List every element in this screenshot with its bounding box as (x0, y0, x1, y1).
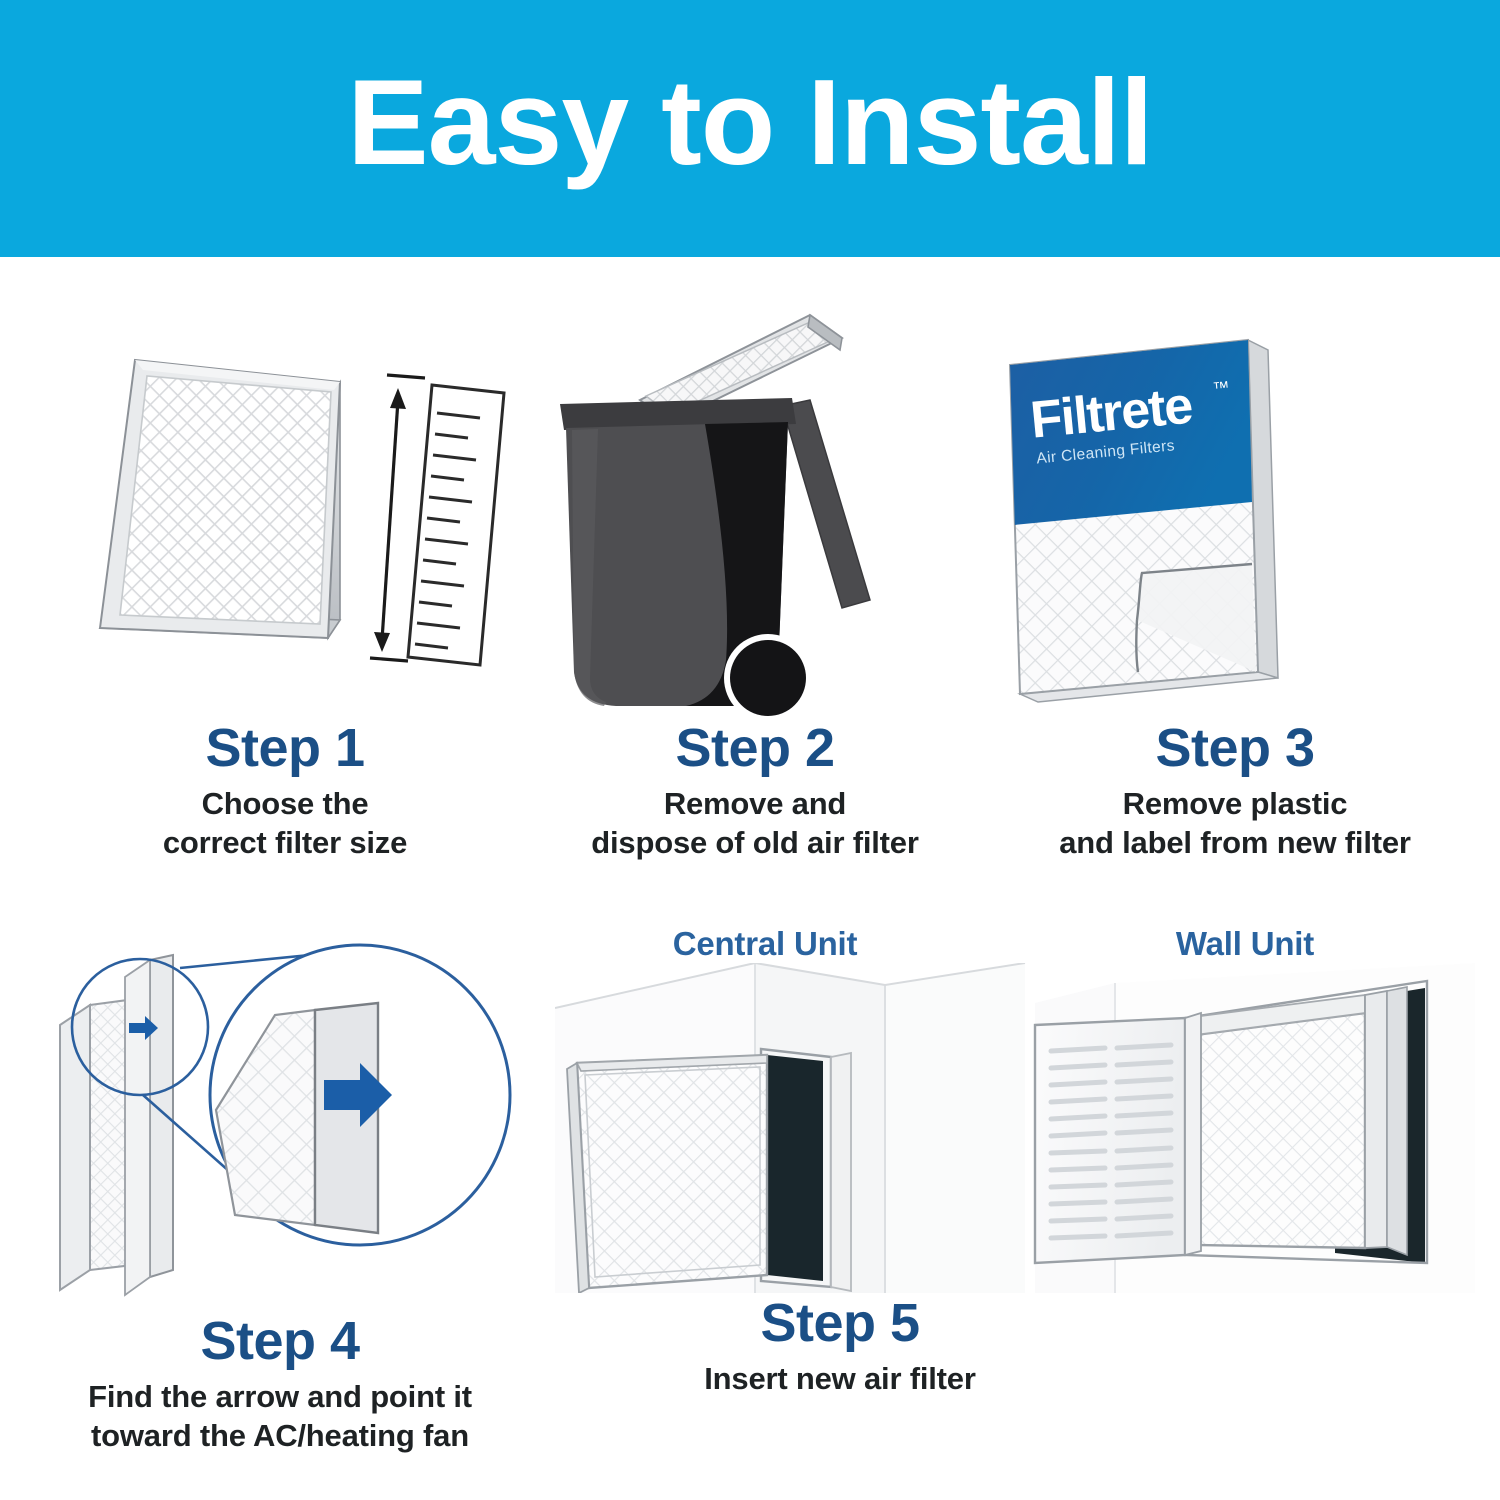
bin-wheel (730, 640, 806, 716)
central-unit-group (555, 963, 1025, 1293)
step-2-line1: Remove and (520, 784, 990, 823)
step-3-line2: and label from new filter (990, 823, 1480, 862)
step-3-line1: Remove plastic (990, 784, 1480, 823)
header-banner: Easy to Install (0, 0, 1500, 257)
step-3-cell: Filtrete ™ Air Cleaning Filters Step 3 R… (990, 320, 1480, 860)
step-1-heading: Step 1 (40, 720, 530, 777)
page-title: Easy to Install (347, 61, 1152, 197)
central-unit-label: Central Unit (555, 925, 975, 963)
wall-unit-label: Wall Unit (1035, 925, 1455, 963)
units-illustration (555, 963, 1485, 1293)
step-5-caption: Step 5 Insert new air filter (375, 1295, 1305, 1398)
step-2-line2: dispose of old air filter (520, 823, 990, 862)
wall-unit-filter (1195, 1013, 1365, 1248)
step-3-caption: Step 3 Remove plastic and label from new… (990, 720, 1480, 862)
filter-edge-arrow-magnifier-illustration (30, 915, 530, 1315)
step-1-line2: correct filter size (40, 823, 530, 862)
brand-trademark: ™ (1212, 378, 1231, 399)
step-2-heading: Step 2 (520, 720, 990, 777)
infographic-page: Easy to Install (0, 0, 1500, 1500)
ruler (408, 385, 504, 665)
step-1-caption: Step 1 Choose the correct filter size (40, 720, 530, 862)
step-1-cell: Step 1 Choose the correct filter size (40, 330, 530, 860)
step-3-heading: Step 3 (990, 720, 1480, 777)
step-5-heading: Step 5 (375, 1295, 1305, 1352)
step-2-cell: Step 2 Remove and dispose of old air fil… (520, 300, 990, 860)
step-1-line1: Choose the (40, 784, 530, 823)
air-filter-with-ruler-illustration (40, 330, 530, 720)
filtrete-package-illustration: Filtrete ™ Air Cleaning Filters (990, 320, 1480, 720)
wall-unit-group (1035, 963, 1475, 1293)
step-4-line2: toward the AC/heating fan (30, 1416, 530, 1455)
trash-bin-with-filter-illustration (520, 300, 990, 720)
step-2-caption: Step 2 Remove and dispose of old air fil… (520, 720, 990, 862)
central-unit-slot (767, 1055, 823, 1281)
step-5-line1: Insert new air filter (375, 1359, 1305, 1398)
step-5-cell: Central Unit Wall Unit (555, 915, 1485, 1460)
wall-unit-louver-door (1035, 1018, 1185, 1263)
